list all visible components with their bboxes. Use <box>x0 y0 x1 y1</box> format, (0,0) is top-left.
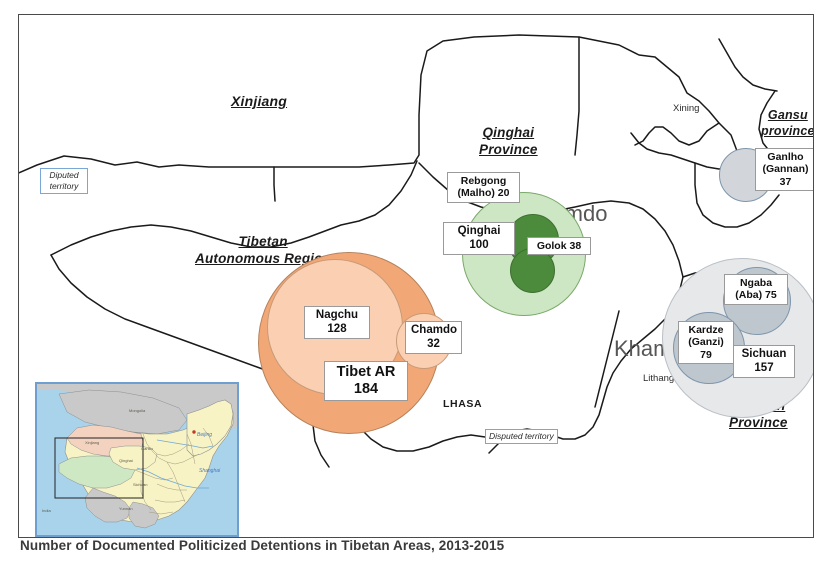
city-label-xining: Xining <box>673 103 699 114</box>
callout-nagchu[interactable]: Nagchu 128 <box>304 306 370 339</box>
callout-qinghai[interactable]: Qinghai 100 <box>443 222 515 255</box>
callout-sichuan-label: Sichuan <box>742 348 787 360</box>
callout-ganlho-sub: (Gannan) <box>761 163 810 175</box>
inset-label-gansu: Gansu <box>141 446 153 451</box>
inset-label-beijing: Beijing <box>197 432 212 438</box>
callout-rebgong-value: (Malho) 20 <box>453 187 514 199</box>
region-label-qinghai-line1: Qinghai <box>482 125 534 140</box>
callout-kardze[interactable]: Kardze (Ganzi) 79 <box>678 321 734 364</box>
inset-map-china: Mongolia India Xinjiang Qinghai Gansu Si… <box>35 382 239 537</box>
region-label-gansu: Gansu province <box>761 108 814 139</box>
callout-tibet-ar[interactable]: Tibet AR 184 <box>324 361 408 401</box>
city-label-xining-text: Xining <box>673 103 699 114</box>
callout-sichuan-value: 157 <box>739 362 789 376</box>
callout-ngaba-sub: (Aba) 75 <box>730 289 782 301</box>
disputed-west-line2: territory <box>50 181 79 191</box>
callout-ngaba-label: Ngaba <box>740 277 772 289</box>
callout-kardze-sub: (Ganzi) <box>684 336 728 348</box>
callout-ganlho[interactable]: Ganlho (Gannan) 37 <box>755 148 814 191</box>
callout-rebgong-label: Rebgong <box>461 175 507 187</box>
region-label-tibet-line1: Tibetan <box>238 234 287 249</box>
callout-sichuan[interactable]: Sichuan 157 <box>733 345 795 378</box>
inset-label-mongolia: Mongolia <box>129 408 145 413</box>
inset-label-yunnan: Yunnan <box>119 506 133 511</box>
callout-nagchu-label: Nagchu <box>316 309 358 321</box>
callout-chamdo-value: 32 <box>411 338 456 352</box>
disputed-territory-tag-south: Disputed territory <box>485 429 558 444</box>
region-label-xinjiang-text: Xinjiang <box>231 93 287 109</box>
region-label-xinjiang: Xinjiang <box>231 93 287 111</box>
inset-label-xinjiang: Xinjiang <box>85 440 99 445</box>
callout-ganlho-value: 37 <box>761 176 810 188</box>
callout-kardze-label: Kardze <box>688 324 723 336</box>
callout-nagchu-value: 128 <box>310 323 364 337</box>
inset-label-sichuan: Sichuan <box>133 482 147 487</box>
callout-rebgong[interactable]: Rebgong (Malho) 20 <box>447 172 520 203</box>
inset-map-svg <box>37 384 237 535</box>
city-label-lhasa: LHASA <box>443 398 482 410</box>
map-figure: Xinjiang Qinghai Province Gansu province… <box>0 0 827 570</box>
callout-tibet-ar-value: 184 <box>330 381 402 398</box>
callout-qinghai-label: Qinghai <box>458 225 501 237</box>
region-label-qinghai-line2: Province <box>479 142 538 157</box>
callout-chamdo-label: Chamdo <box>411 324 457 336</box>
city-label-lithang: Lithang <box>643 373 674 384</box>
callout-kardze-value: 79 <box>684 349 728 361</box>
map-canvas: Xinjiang Qinghai Province Gansu province… <box>18 14 814 538</box>
callout-ngaba[interactable]: Ngaba (Aba) 75 <box>724 274 788 305</box>
callout-ganlho-label: Ganlho <box>767 151 803 163</box>
callout-tibet-ar-label: Tibet AR <box>337 364 396 380</box>
disputed-territory-tag-west: Diputed territory <box>40 168 88 194</box>
city-label-lhasa-text: LHASA <box>443 398 482 410</box>
callout-qinghai-value: 100 <box>449 239 509 253</box>
inset-label-shanghai: Shanghai <box>199 468 220 474</box>
region-label-gansu-line1: Gansu <box>768 108 808 122</box>
callout-golok[interactable]: Golok 38 <box>527 237 591 255</box>
disputed-south-text: Disputed territory <box>489 431 554 441</box>
disputed-west-line1: Diputed <box>49 170 78 180</box>
region-label-gansu-line2: province <box>761 124 814 138</box>
callout-golok-label: Golok 38 <box>537 240 581 252</box>
inset-label-qinghai: Qinghai <box>119 458 133 463</box>
region-label-qinghai: Qinghai Province <box>479 125 538 159</box>
callout-chamdo[interactable]: Chamdo 32 <box>405 321 462 354</box>
city-label-lithang-text: Lithang <box>643 373 674 384</box>
figure-caption: Number of Documented Politicized Detenti… <box>20 538 810 553</box>
inset-label-india: India <box>42 508 51 513</box>
